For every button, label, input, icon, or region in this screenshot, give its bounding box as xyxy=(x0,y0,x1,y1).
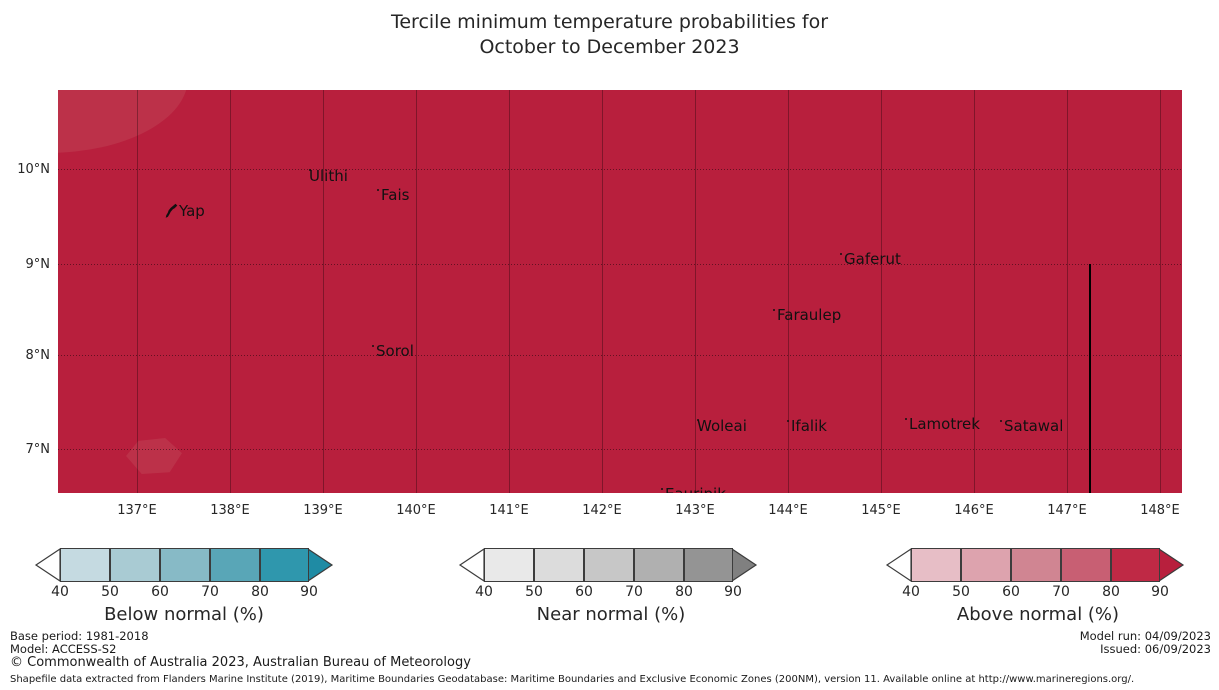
xtick-143: 143°E xyxy=(660,503,730,518)
cbtick-60: 60 xyxy=(140,584,180,600)
xtick-144: 144°E xyxy=(753,503,823,518)
island-name: Ulithi xyxy=(309,167,348,185)
gridline-lon-141 xyxy=(509,90,510,493)
xtick-145: 145°E xyxy=(846,503,916,518)
xtick-140: 140°E xyxy=(381,503,451,518)
ytick-7: 7°N xyxy=(0,442,50,457)
title-line-1: Tercile minimum temperature probabilitie… xyxy=(0,10,1219,35)
footer-right-block: Model run: 04/09/2023 Issued: 06/09/2023 xyxy=(1080,630,1211,655)
map-label-satawal: Satawal xyxy=(1004,417,1063,435)
gridline-lon-140 xyxy=(416,90,417,493)
probability-patch-southwest xyxy=(126,438,182,474)
island-name: Sorol xyxy=(376,342,414,360)
cbtick-40: 40 xyxy=(40,584,80,600)
cbtick-90: 90 xyxy=(289,584,329,600)
island-name: Fais xyxy=(381,186,409,204)
xtick-147: 147°E xyxy=(1032,503,1102,518)
footer-model-run: Model run: 04/09/2023 xyxy=(1080,630,1211,643)
colorbar-band-70-80 xyxy=(634,548,684,582)
gridline-lon-143 xyxy=(695,90,696,493)
title-line-2: October to December 2023 xyxy=(0,35,1219,60)
colorbar-near-normal: 40 50 60 70 80 90 Near normal (%) xyxy=(451,548,771,582)
ytick-8: 8°N xyxy=(0,348,50,363)
xtick-142: 142°E xyxy=(567,503,637,518)
cbtick-50: 50 xyxy=(514,584,554,600)
footer-issued: Issued: 06/09/2023 xyxy=(1080,643,1211,656)
cbtick-80: 80 xyxy=(664,584,704,600)
island-marker-icon xyxy=(372,345,374,347)
gridline-lat-10 xyxy=(58,169,1182,170)
footer-left-block: Base period: 1981-2018 Model: ACCESS-S2 xyxy=(10,630,149,655)
colorbar-below-normal: 40 50 60 70 80 90 Below normal (%) xyxy=(14,548,354,582)
cbtick-40: 40 xyxy=(891,584,931,600)
colorbar-title-near-normal: Near normal (%) xyxy=(451,604,771,625)
island-name: Eauripik xyxy=(665,485,726,493)
cbtick-80: 80 xyxy=(1091,584,1131,600)
ytick-10: 10°N xyxy=(0,162,50,177)
cbtick-50: 50 xyxy=(941,584,981,600)
gridline-lon-148 xyxy=(1160,90,1161,493)
footer-model: Model: ACCESS-S2 xyxy=(10,643,149,656)
cbtick-70: 70 xyxy=(190,584,230,600)
map-label-faraulep: Faraulep xyxy=(777,306,841,324)
cbtick-40: 40 xyxy=(464,584,504,600)
map-label-yap: Yap xyxy=(179,202,205,220)
colorbar-title-above-normal: Above normal (%) xyxy=(878,604,1198,625)
colorbar-gradient xyxy=(451,548,771,582)
map-plot-area: Yap Ulithi Fais Gaferut Faraulep Sorol W… xyxy=(58,90,1182,493)
cbtick-90: 90 xyxy=(1140,584,1180,600)
colorbar-gradient xyxy=(14,548,354,582)
island-marker-icon xyxy=(787,420,789,422)
gridline-lat-9 xyxy=(58,264,1182,265)
colorbar-band-50-60 xyxy=(110,548,160,582)
colorbar-band-70-80 xyxy=(210,548,260,582)
island-name: Lamotrek xyxy=(909,415,980,433)
map-label-ulithi: Ulithi xyxy=(309,167,348,185)
footer-base-period: Base period: 1981-2018 xyxy=(10,630,149,643)
colorbar-title-below-normal: Below normal (%) xyxy=(14,604,354,625)
island-name: Satawal xyxy=(1004,417,1063,435)
cbtick-80: 80 xyxy=(240,584,280,600)
colorbar-band-60-70 xyxy=(160,548,210,582)
colorbar-band-80-90 xyxy=(260,548,309,582)
island-name: Woleai xyxy=(697,417,747,435)
eez-boundary-line xyxy=(1089,264,1091,493)
island-name: Ifalik xyxy=(791,417,827,435)
island-marker-icon xyxy=(773,309,775,311)
colorbar-band-60-70 xyxy=(1011,548,1061,582)
cbtick-50: 50 xyxy=(90,584,130,600)
colorbar-band-80-90 xyxy=(1111,548,1160,582)
colorbar-gradient xyxy=(878,548,1198,582)
colorbar-band-50-60 xyxy=(534,548,584,582)
gridline-lon-139 xyxy=(323,90,324,493)
gridline-lon-144 xyxy=(788,90,789,493)
colorbar-band-40-50 xyxy=(60,548,110,582)
xtick-148: 148°E xyxy=(1125,503,1195,518)
colorbar-band-70-80 xyxy=(1061,548,1111,582)
cbtick-70: 70 xyxy=(614,584,654,600)
xtick-139: 139°E xyxy=(288,503,358,518)
colorbar-band-60-70 xyxy=(584,548,634,582)
footer-shapefile-attribution: Shapefile data extracted from Flanders M… xyxy=(10,674,1134,685)
island-marker-icon xyxy=(840,253,842,255)
gridline-lat-7 xyxy=(58,449,1182,450)
island-name: Yap xyxy=(179,202,205,220)
island-marker-icon xyxy=(309,169,311,171)
island-marker-icon xyxy=(377,189,379,191)
colorbar-band-40-50 xyxy=(484,548,534,582)
cbtick-90: 90 xyxy=(713,584,753,600)
island-name: Gaferut xyxy=(844,250,901,268)
colorbar-band-50-60 xyxy=(961,548,1011,582)
colorbar-above-normal: 40 50 60 70 80 90 Above normal (%) xyxy=(878,548,1198,582)
island-marker-icon xyxy=(905,418,907,420)
xtick-138: 138°E xyxy=(195,503,265,518)
map-label-sorol: Sorol xyxy=(376,342,414,360)
island-name: Faraulep xyxy=(777,306,841,324)
cbtick-60: 60 xyxy=(564,584,604,600)
probability-patch-northwest xyxy=(58,90,188,153)
island-marker-icon xyxy=(1000,420,1002,422)
island-marker-icon xyxy=(661,488,663,490)
map-label-lamotrek: Lamotrek xyxy=(909,415,980,433)
map-label-eauripik: Eauripik xyxy=(665,485,726,493)
colorbar-band-80-90 xyxy=(684,548,733,582)
cbtick-60: 60 xyxy=(991,584,1031,600)
gridline-lon-145 xyxy=(881,90,882,493)
map-label-gaferut: Gaferut xyxy=(844,250,901,268)
island-marker-icon xyxy=(697,419,699,421)
map-label-woleai: Woleai xyxy=(697,417,747,435)
xtick-137: 137°E xyxy=(102,503,172,518)
cbtick-70: 70 xyxy=(1041,584,1081,600)
gridline-lon-138 xyxy=(230,90,231,493)
xtick-141: 141°E xyxy=(474,503,544,518)
gridline-lon-142 xyxy=(602,90,603,493)
footer-copyright: © Commonwealth of Australia 2023, Austra… xyxy=(10,655,471,670)
gridline-lat-8 xyxy=(58,355,1182,356)
map-label-ifalik: Ifalik xyxy=(791,417,827,435)
map-label-fais: Fais xyxy=(381,186,409,204)
gridline-lon-137 xyxy=(137,90,138,493)
yap-island-icon xyxy=(165,203,178,218)
page-title: Tercile minimum temperature probabilitie… xyxy=(0,10,1219,60)
ytick-9: 9°N xyxy=(0,257,50,272)
colorbar-band-40-50 xyxy=(911,548,961,582)
xtick-146: 146°E xyxy=(939,503,1009,518)
gridline-lon-147 xyxy=(1067,90,1068,493)
